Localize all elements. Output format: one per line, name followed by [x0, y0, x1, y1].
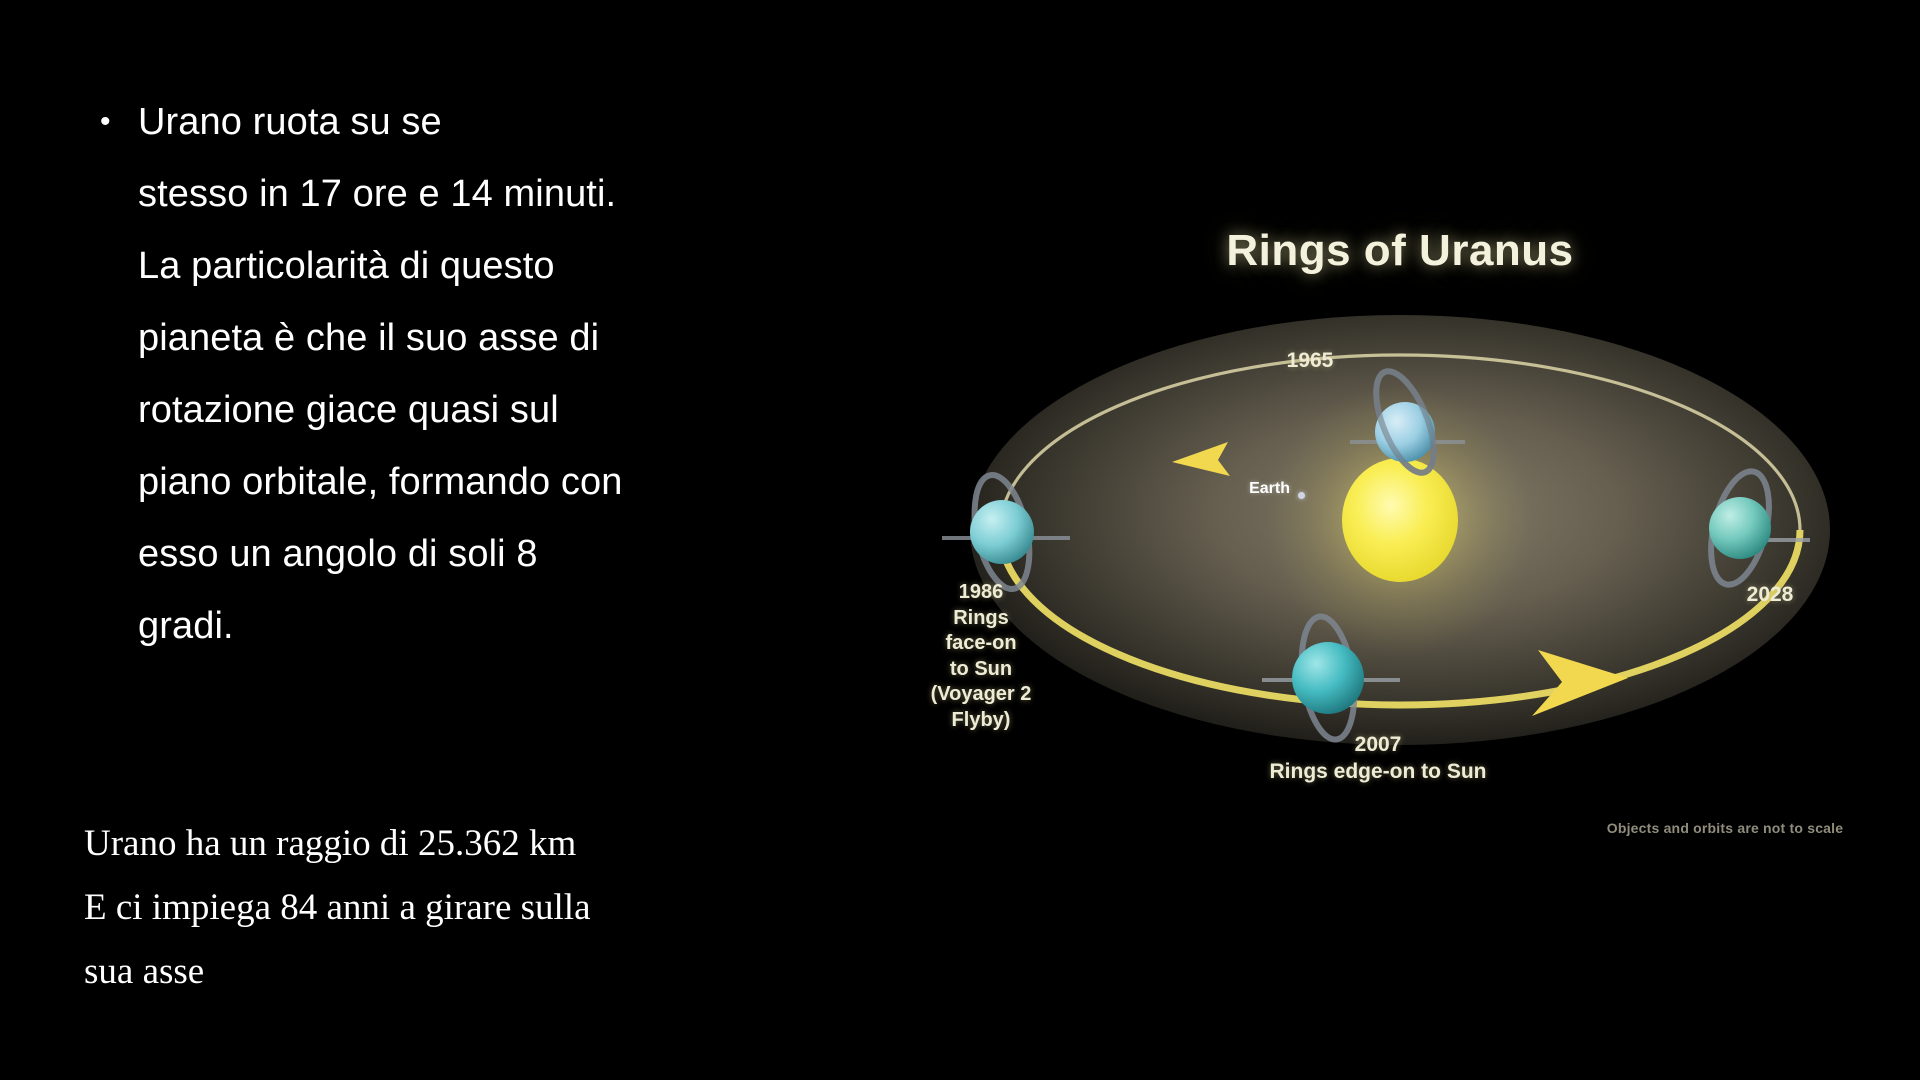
diagram-label-1986: 1986 Rings face-on to Sun (Voyager 2 Fly…: [866, 580, 1096, 734]
diagram-label-1965: 1965: [1210, 348, 1410, 375]
diagram-label-2028: 2028: [1670, 582, 1870, 609]
planet-1986-body: [970, 500, 1034, 564]
rings-of-uranus-diagram: Rings of Uranus: [880, 180, 1920, 900]
planet-2028-body: [1709, 497, 1771, 559]
sun: [1342, 458, 1458, 582]
supplementary-note-text: Urano ha un raggio di 25.362 km E ci imp…: [84, 812, 824, 1004]
diagram-label-2007: 2007 Rings edge-on to Sun: [1198, 732, 1558, 786]
slide-text-column: • Urano ruota su se stesso in 17 ore e 1…: [0, 0, 860, 1080]
planet-2007-body: [1292, 642, 1364, 714]
diagram-footnote: Objects and orbits are not to scale: [1560, 820, 1890, 836]
bullet-list-item: • Urano ruota su se stesso in 17 ore e 1…: [96, 86, 796, 662]
bullet-marker-icon: •: [96, 86, 138, 158]
bullet-body-text: Urano ruota su se stesso in 17 ore e 14 …: [138, 86, 788, 662]
orbit-scene-graphic: [880, 180, 1920, 900]
earth-marker-dot: [1298, 492, 1305, 499]
diagram-label-earth: Earth: [1180, 480, 1290, 498]
